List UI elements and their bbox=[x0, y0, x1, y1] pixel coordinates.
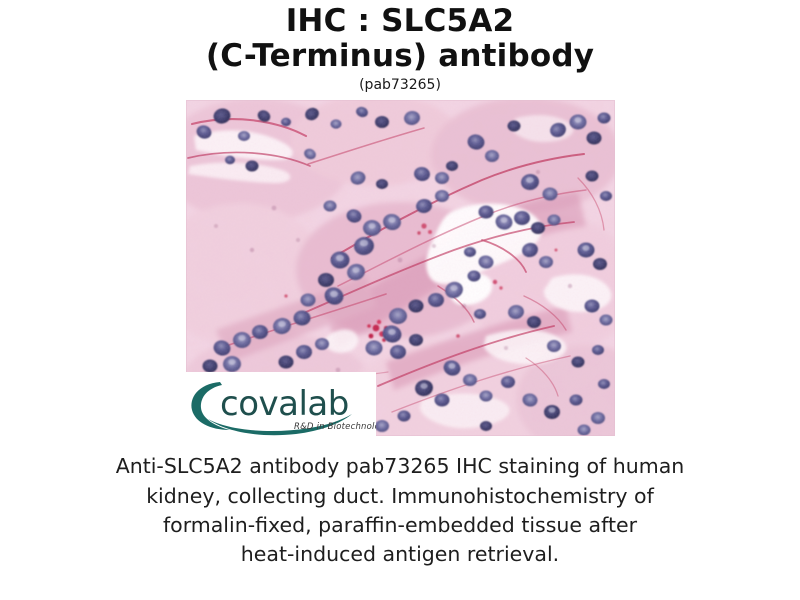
caption-line-1: Anti-SLC5A2 antibody pab73265 IHC staini… bbox=[85, 452, 715, 481]
figure-root: IHC : SLC5A2 (C-Terminus) antibody (pab7… bbox=[0, 0, 800, 600]
caption-line-3: formalin-fixed, paraffin-embedded tissue… bbox=[85, 511, 715, 540]
title-line-1: IHC : SLC5A2 bbox=[0, 4, 800, 39]
covalab-tagline-text: R&D in Biotechnology bbox=[294, 422, 376, 432]
caption-line-2: kidney, collecting duct. Immunohistochem… bbox=[85, 482, 715, 511]
micrograph-container: covalab R&D in Biotechnology bbox=[186, 100, 615, 436]
covalab-wordmark-text: covalab bbox=[220, 384, 349, 424]
caption-line-4: heat-induced antigen retrieval. bbox=[85, 540, 715, 569]
covalab-logo-watermark: covalab R&D in Biotechnology bbox=[186, 372, 376, 436]
catalog-code: (pab73265) bbox=[0, 77, 800, 94]
title-line-2: (C-Terminus) antibody bbox=[0, 39, 800, 74]
figure-title-block: IHC : SLC5A2 (C-Terminus) antibody (pab7… bbox=[0, 0, 800, 93]
figure-caption: Anti-SLC5A2 antibody pab73265 IHC staini… bbox=[85, 452, 715, 568]
